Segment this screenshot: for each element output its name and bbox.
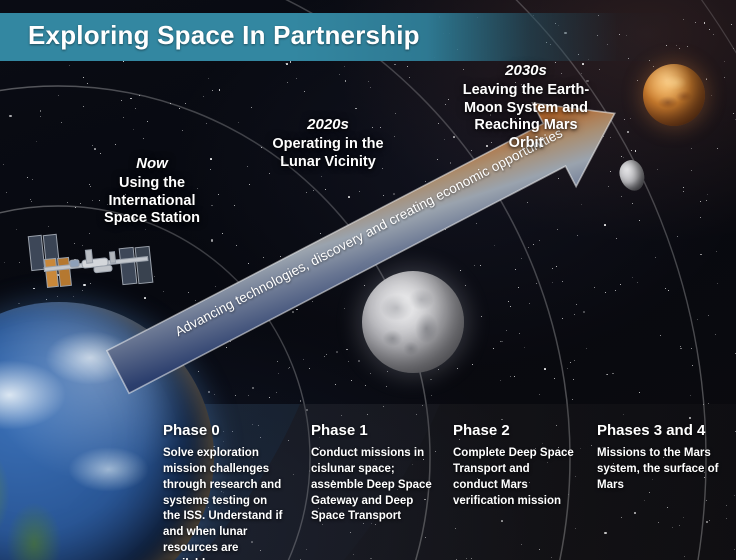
phase-title-3: Phases 3 and 4 (597, 422, 725, 439)
phase-block-0: Phase 0 Solve exploration mission challe… (163, 422, 285, 560)
phase-description-3: Missions to the Mars system, the surface… (597, 446, 725, 494)
moon-body (362, 271, 464, 373)
phase-description-2: Complete Deep Space Transport and conduc… (453, 446, 577, 509)
stage-name-now: Using the International Space Station (62, 175, 242, 228)
stage-label-now: Now Using the International Space Statio… (62, 155, 242, 228)
phase-title-2: Phase 2 (453, 422, 577, 439)
phase-title-1: Phase 1 (311, 422, 433, 439)
stage-name-2030s: Leaving the Earth- Moon System and Reach… (428, 82, 624, 153)
phase-block-2: Phase 2 Complete Deep Space Transport an… (453, 422, 577, 509)
stage-era-now: Now (62, 155, 242, 172)
stage-label-2030s: 2030s Leaving the Earth- Moon System and… (428, 62, 624, 153)
mars-planet (643, 64, 705, 126)
stage-era-2020s: 2020s (238, 116, 418, 133)
stage-label-2020s: 2020s Operating in the Lunar Vicinity (238, 116, 418, 171)
stage-name-2020s: Operating in the Lunar Vicinity (238, 136, 418, 171)
phase-block-3: Phases 3 and 4 Missions to the Mars syst… (597, 422, 725, 494)
phase-description-0: Solve exploration mission challenges thr… (163, 446, 285, 560)
international-space-station-icon (24, 232, 160, 294)
phase-block-1: Phase 1 Conduct missions in cislunar spa… (311, 422, 433, 525)
phase-title-0: Phase 0 (163, 422, 285, 439)
stage-era-2030s: 2030s (428, 62, 624, 79)
infographic-canvas: Exploring Space In Partnership (0, 0, 736, 560)
phase-description-1: Conduct missions in cislunar space; asse… (311, 446, 433, 525)
